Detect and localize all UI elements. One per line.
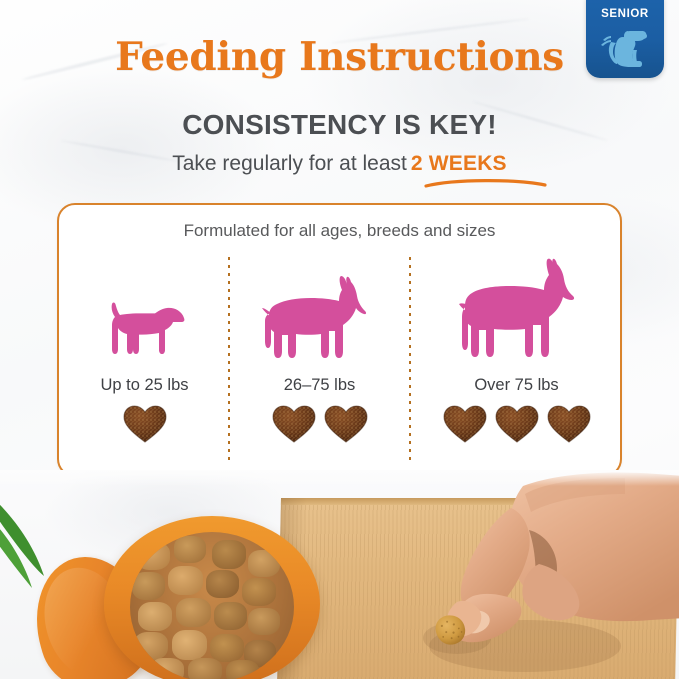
large-dog-icon [411, 257, 622, 365]
card-heading: Formulated for all ages, breeds and size… [59, 221, 620, 241]
weight-label-small: Up to 25 lbs [61, 376, 228, 395]
page-title: Feeding Instructions [0, 34, 679, 80]
infographic-canvas: SENIOR [0, 0, 679, 679]
medium-dog-icon [230, 273, 409, 365]
heart-kibble-icon [271, 403, 317, 445]
kibble-container [104, 516, 320, 679]
hand-holding-kibble [405, 470, 679, 679]
heart-kibble-icon [323, 403, 369, 445]
feeding-chart-card: Formulated for all ages, breeds and size… [57, 203, 622, 477]
subtitle: CONSISTENCY IS KEY! [0, 109, 679, 141]
size-column-medium: 26–75 lbs [230, 251, 409, 461]
kibble-row-large [411, 403, 622, 445]
tagline: Take regularly for at least2 WEEKS [0, 152, 679, 176]
kibble-row-medium [230, 403, 409, 445]
size-column-small: Up to 25 lbs [61, 251, 228, 461]
tagline-prefix: Take regularly for at least [172, 152, 407, 175]
product-photo [0, 470, 679, 679]
weight-label-large: Over 75 lbs [411, 376, 622, 395]
weight-label-medium: 26–75 lbs [230, 376, 409, 395]
small-dog-icon [61, 297, 228, 365]
senior-badge-label: SENIOR [586, 8, 664, 20]
heart-kibble-icon [122, 403, 168, 445]
heart-kibble-icon [494, 403, 540, 445]
kibble-row-small [61, 403, 228, 445]
photo-top-fade [0, 470, 679, 486]
heart-kibble-icon [546, 403, 592, 445]
underline-swoosh-icon [424, 176, 547, 194]
container-interior [130, 532, 294, 679]
size-column-large: Over 75 lbs [411, 251, 622, 461]
tagline-highlight: 2 WEEKS [411, 152, 507, 175]
heart-kibble-icon [442, 403, 488, 445]
